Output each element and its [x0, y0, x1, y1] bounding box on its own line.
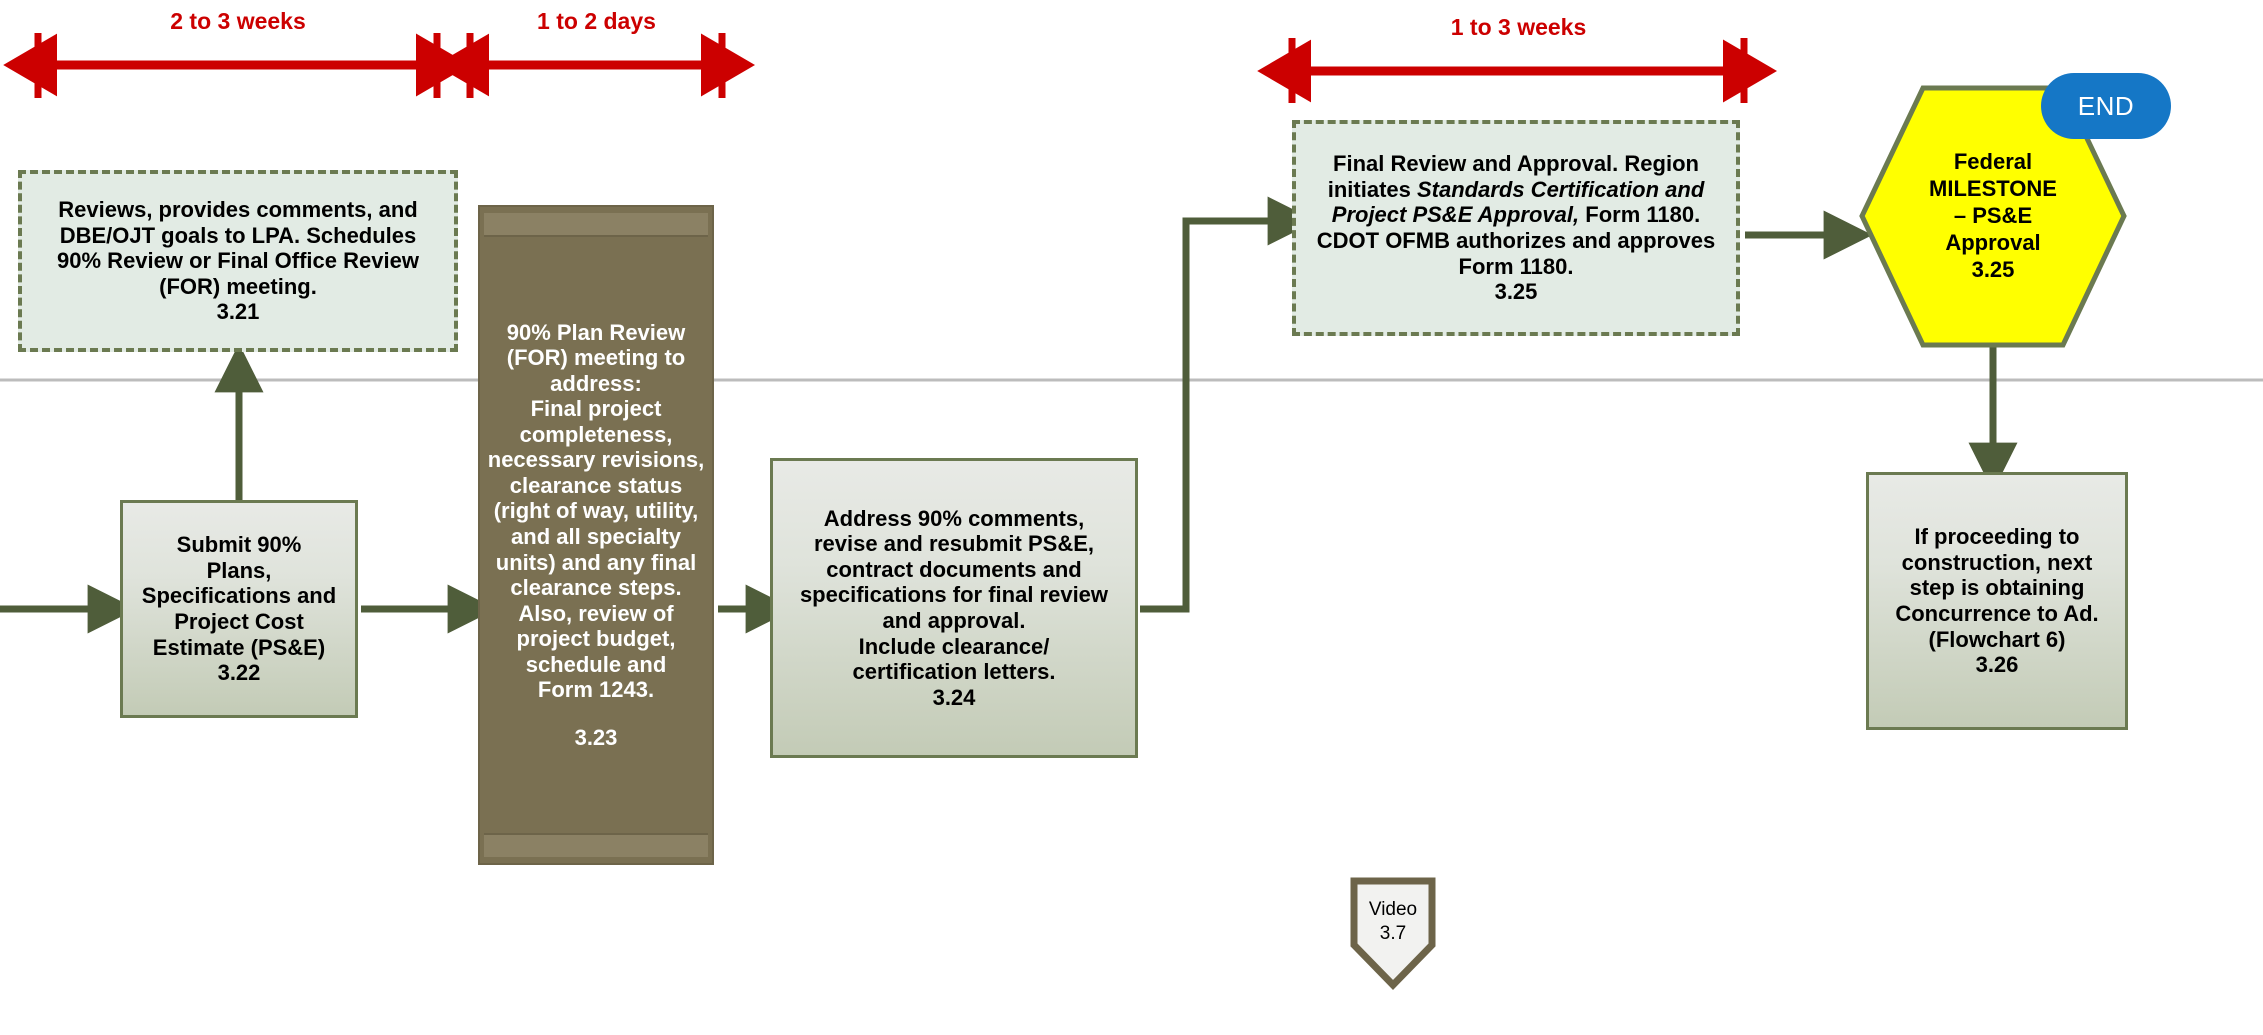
- node-322-number: 3.22: [129, 660, 349, 686]
- video-label: Video: [1354, 898, 1432, 922]
- node-324-address-90-percent-comments[interactable]: Address 90% comments, revise and resubmi…: [770, 458, 1138, 758]
- connector-324-to-325: [1140, 221, 1290, 609]
- node-324-line-6: Include clearance/: [779, 634, 1129, 660]
- node-326-text: If proceeding to construction, next step…: [1869, 524, 2125, 677]
- node-323-line-2: (FOR) meeting to: [486, 345, 706, 371]
- node-323-line-8: (right of way, utility,: [486, 498, 706, 524]
- node-323-line-1: 90% Plan Review: [486, 320, 706, 346]
- node-324-text: Address 90% comments, revise and resubmi…: [773, 506, 1135, 710]
- node-323-line-11: clearance steps.: [486, 575, 706, 601]
- node-323-line-6: necessary revisions,: [486, 447, 706, 473]
- node-321-line-1: Reviews, provides comments, and: [28, 197, 448, 223]
- node-321-line-2: DBE/OJT goals to LPA. Schedules: [28, 223, 448, 249]
- milestone-line-4: Approval: [1929, 230, 2057, 257]
- node-322-submit-90-percent-plans[interactable]: Submit 90% Plans, Specifications and Pro…: [120, 500, 358, 718]
- timeline-bracket-1: [38, 33, 437, 98]
- node-324-line-4: specifications for final review: [779, 582, 1129, 608]
- node-323-number: 3.23: [486, 725, 706, 751]
- milestone-number: 3.25: [1929, 257, 2057, 284]
- node-322-text: Submit 90% Plans, Specifications and Pro…: [123, 532, 355, 685]
- node-323-line-3: address:: [486, 371, 706, 397]
- milestone-line-3: – PS&E: [1929, 203, 2057, 230]
- node-323-line-5: completeness,: [486, 422, 706, 448]
- node-324-number: 3.24: [779, 685, 1129, 711]
- node-326-line-4: Concurrence to Ad.: [1875, 601, 2119, 627]
- node-323-line-12: Also, review of: [486, 601, 706, 627]
- node-323-line-9: and all specialty: [486, 524, 706, 550]
- timeline-label-3: 1 to 3 weeks: [1292, 14, 1745, 41]
- timeline-label-1: 2 to 3 weeks: [38, 8, 438, 35]
- node-milestone-federal-psande-approval[interactable]: Federal MILESTONE – PS&E Approval 3.25: [1862, 88, 2124, 345]
- node-326-line-2: construction, next: [1875, 550, 2119, 576]
- node-326-number: 3.26: [1875, 652, 2119, 678]
- node-324-line-2: revise and resubmit PS&E,: [779, 531, 1129, 557]
- node-322-line-2: Plans,: [129, 558, 349, 584]
- node-323-line-13: project budget,: [486, 626, 706, 652]
- node-322-line-5: Estimate (PS&E): [129, 635, 349, 661]
- node-323-line-7: clearance status: [486, 473, 706, 499]
- node-323-line-10: units) and any final: [486, 550, 706, 576]
- node-321-text: Reviews, provides comments, and DBE/OJT …: [22, 197, 454, 325]
- node-324-line-5: and approval.: [779, 608, 1129, 634]
- document-bottom-band: [484, 833, 708, 857]
- node-325-number: 3.25: [1302, 279, 1730, 305]
- node-326-line-1: If proceeding to: [1875, 524, 2119, 550]
- node-322-line-1: Submit 90%: [129, 532, 349, 558]
- milestone-line-2: MILESTONE: [1929, 176, 2057, 203]
- node-321-line-4: (FOR) meeting.: [28, 274, 448, 300]
- milestone-label: Federal MILESTONE – PS&E Approval 3.25: [1862, 88, 2124, 345]
- video-reference-3-7[interactable]: Video 3.7: [1354, 898, 1432, 946]
- node-323-line-4: Final project: [486, 396, 706, 422]
- node-324-line-3: contract documents and: [779, 557, 1129, 583]
- node-321-line-3: 90% Review or Final Office Review: [28, 248, 448, 274]
- node-324-line-1: Address 90% comments,: [779, 506, 1129, 532]
- node-321-reviews-comments[interactable]: Reviews, provides comments, and DBE/OJT …: [18, 170, 458, 352]
- node-326-if-proceeding-to-construction[interactable]: If proceeding to construction, next step…: [1866, 472, 2128, 730]
- node-325-text: Final Review and Approval. Region initia…: [1296, 151, 1736, 304]
- node-322-line-4: Project Cost: [129, 609, 349, 635]
- node-326-line-3: step is obtaining: [1875, 575, 2119, 601]
- node-322-line-3: Specifications and: [129, 583, 349, 609]
- node-323-spacer: [486, 703, 706, 725]
- node-321-number: 3.21: [28, 299, 448, 325]
- node-326-line-5: (Flowchart 6): [1875, 627, 2119, 653]
- node-325-final-review-and-approval[interactable]: Final Review and Approval. Region initia…: [1292, 120, 1740, 336]
- node-323-line-14: schedule and: [486, 652, 706, 678]
- timeline-label-2: 1 to 2 days: [470, 8, 723, 35]
- node-323-90-percent-plan-review-document[interactable]: 90% Plan Review (FOR) meeting to address…: [478, 205, 714, 865]
- timeline-bracket-3: [1292, 38, 1744, 103]
- video-number: 3.7: [1354, 922, 1432, 946]
- node-323-line-15: Form 1243.: [486, 677, 706, 703]
- flowchart-canvas: 2 to 3 weeks 1 to 2 days 1 to 3 weeks Re…: [0, 0, 2263, 1035]
- document-top-band: [484, 213, 708, 237]
- node-324-line-7: certification letters.: [779, 659, 1129, 685]
- milestone-line-1: Federal: [1929, 149, 2057, 176]
- node-323-text: 90% Plan Review (FOR) meeting to address…: [480, 320, 712, 750]
- timeline-bracket-2: [470, 33, 722, 98]
